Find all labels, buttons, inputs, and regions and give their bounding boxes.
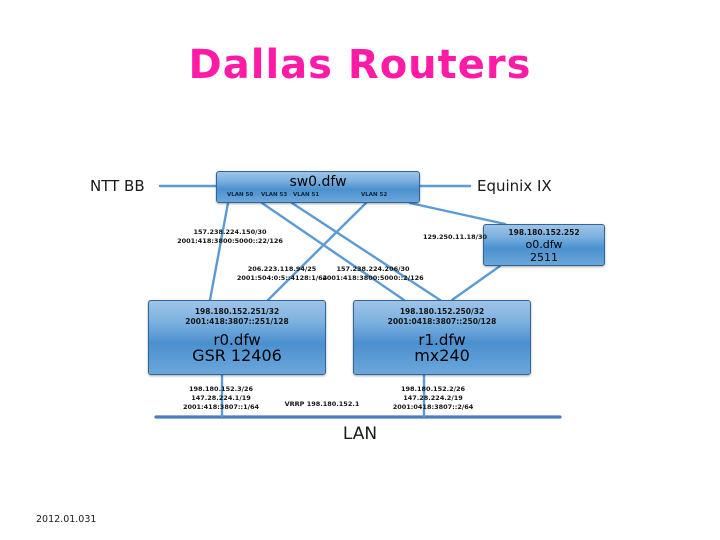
annotation-ntt-link-r0: 157.238.224.150/302001:418:3800:5000::22… xyxy=(168,228,292,246)
vlan-port-row: VLAN 50 VLAN 53 VLAN 51 VLAN 52 xyxy=(217,192,421,203)
node-sw0-hostname: sw0.dfw xyxy=(217,174,419,191)
label-equinix-ix: Equinix IX xyxy=(477,177,552,195)
annotation-ntt-link-r1: 157.238.224.206/302001:418:3800:5000::2/… xyxy=(318,265,428,283)
label-ntt-bb: NTT BB xyxy=(90,177,145,195)
node-r0-ipv4: 198.180.152.251/32 xyxy=(149,307,325,317)
node-r0-ipv6: 2001:418:3807::251/128 xyxy=(149,317,325,327)
annotation-ix-link-r0: 206.223.118.94/252001:504:0:5::4128:1/64 xyxy=(234,265,330,283)
vlan-label-51: VLAN 51 xyxy=(293,192,319,198)
slide-title: Dallas Routers xyxy=(0,42,720,88)
vlan-label-50: VLAN 50 xyxy=(227,192,253,198)
annotation-vrrp: VRRP 198.180.152.1 xyxy=(272,400,372,409)
annotation-oob-link: 129.250.11.18/30 xyxy=(402,233,508,242)
annotation-lan-left: 198.180.152.3/26147.28.224.1/192001:418:… xyxy=(158,385,284,412)
slide-footer-date: 2012.01.031 xyxy=(36,514,96,525)
node-sw0-dfw[interactable]: sw0.dfw VLAN 50 VLAN 53 VLAN 51 VLAN 52 xyxy=(216,171,420,203)
node-o0-dfw[interactable]: 198.180.152.252 o0.dfw 2511 xyxy=(483,224,605,266)
annotation-lan-right: 198.180.152.2/26147.28.224.2/192001:0418… xyxy=(368,385,498,412)
node-r1-model: mx240 xyxy=(354,348,530,364)
node-r0-dfw[interactable]: 198.180.152.251/32 2001:418:3807::251/12… xyxy=(148,300,326,375)
vlan-label-53: VLAN 53 xyxy=(261,192,287,198)
label-lan: LAN xyxy=(0,424,720,444)
slide-canvas: Dallas Routers NTT BB Equinix IX LAN sw0… xyxy=(0,0,720,540)
node-o0-model: 2511 xyxy=(484,251,604,264)
node-r1-dfw[interactable]: 198.180.152.250/32 2001:0418:3807::250/1… xyxy=(353,300,531,375)
vlan-label-52: VLAN 52 xyxy=(361,192,387,198)
node-r1-ipv6: 2001:0418:3807::250/128 xyxy=(354,317,530,327)
node-r1-ipv4: 198.180.152.250/32 xyxy=(354,307,530,317)
node-r0-model: GSR 12406 xyxy=(149,348,325,364)
